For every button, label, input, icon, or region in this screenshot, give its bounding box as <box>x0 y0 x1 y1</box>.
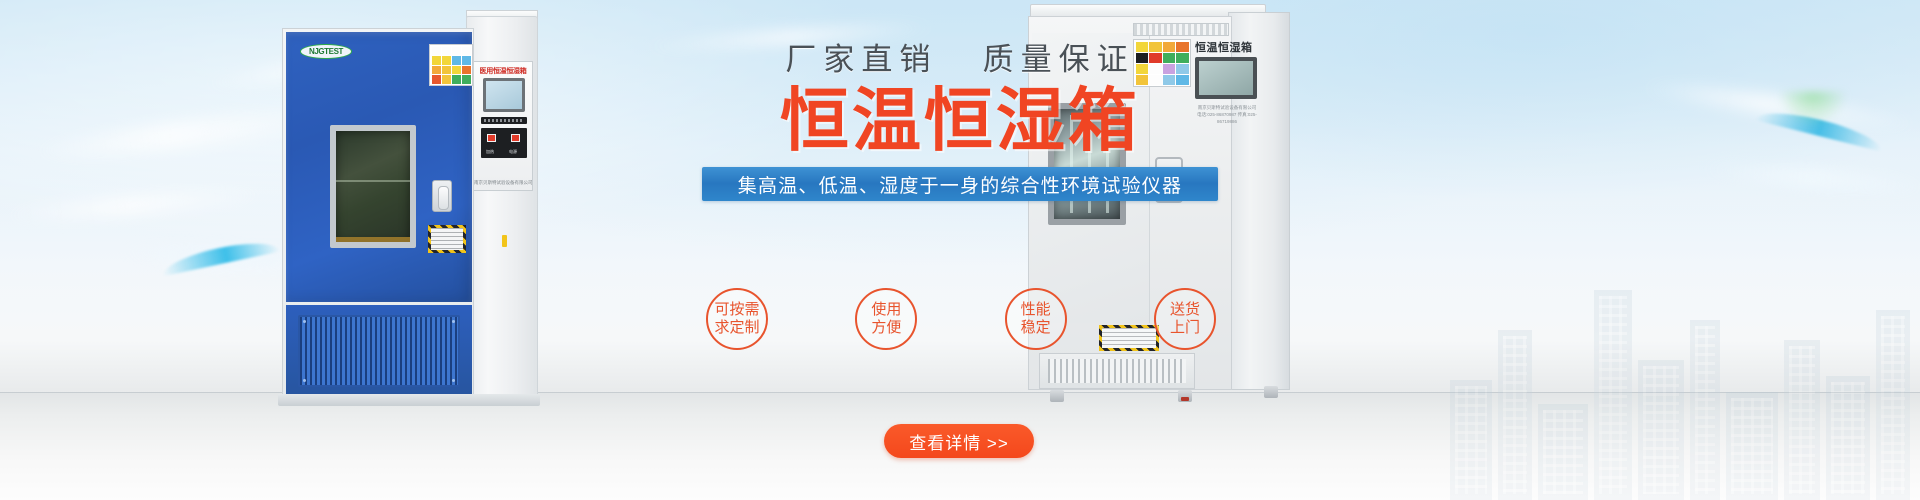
left-chamber-touchscreen <box>483 78 525 112</box>
view-details-label: 查看详情 >> <box>909 429 1009 454</box>
feature-badge-stable[interactable]: 性能 稳定 <box>1005 288 1067 350</box>
left-chamber-panel-title: 医用恒温恒湿箱 <box>474 66 532 76</box>
subtitle-text: 集高温、低温、湿度于一身的综合性环境试验仪器 <box>738 171 1182 198</box>
left-chamber-button-row: 加热 电源 <box>481 128 527 158</box>
feature-badge-delivery[interactable]: 送货 上门 <box>1154 288 1216 350</box>
left-chamber-warning-label <box>428 225 466 253</box>
left-chamber-ventilation-grille <box>298 315 460 387</box>
right-chamber-vent-slots <box>1133 23 1229 36</box>
badge-line-2: 求定制 <box>714 319 759 337</box>
brand-logo-icon: NJGTEST <box>300 44 352 59</box>
tagline-left: 厂家直销 <box>785 42 937 77</box>
left-chamber-control-column: 医用恒温恒湿箱 加热 电源 南京贝斯特试验设备有限公司 <box>466 16 538 400</box>
left-chamber-control-panel: 医用恒温恒湿箱 加热 电源 南京贝斯特试验设备有限公司 <box>473 61 533 191</box>
right-chamber-caster-foot <box>1178 390 1192 402</box>
tagline-right: 质量保证 <box>983 42 1135 77</box>
green-leaf-accent <box>1778 92 1848 126</box>
left-chamber-door-handle <box>432 180 452 212</box>
view-details-button[interactable]: 查看详情 >> <box>884 424 1034 458</box>
tagline: 厂家直销 质量保证 <box>700 44 1220 75</box>
left-chamber-viewing-window <box>330 125 416 248</box>
badge-line-1: 送货 <box>1170 301 1200 319</box>
product-image-left-chamber: 医用恒温恒湿箱 加热 电源 南京贝斯特试验设备有限公司 NJGTEST <box>282 28 538 400</box>
badge-line-1: 使用 <box>871 301 901 319</box>
right-chamber-caster-foot <box>1050 390 1064 402</box>
left-chamber-display-strip <box>481 117 527 124</box>
left-chamber-button-label-2: 电源 <box>509 149 517 155</box>
promo-banner: 医用恒温恒湿箱 加热 电源 南京贝斯特试验设备有限公司 NJGTEST <box>0 0 1920 500</box>
badge-line-2: 上门 <box>1170 319 1200 337</box>
left-chamber-button-label-1: 加热 <box>486 149 494 155</box>
left-chamber-safety-sticker <box>429 44 473 86</box>
badge-line-1: 性能 <box>1021 301 1051 319</box>
headline: 恒温恒湿箱 <box>700 86 1220 155</box>
left-chamber-blue-door: NJGTEST <box>286 32 472 302</box>
badge-line-2: 方便 <box>871 319 901 337</box>
badge-line-2: 稳定 <box>1021 319 1051 337</box>
left-chamber-lower-section <box>286 305 472 398</box>
brand-logo-text: NJGTEST <box>309 47 343 56</box>
subtitle-bar: 集高温、低温、湿度于一身的综合性环境试验仪器 <box>702 167 1218 201</box>
feature-badge-easy-use[interactable]: 使用 方便 <box>855 288 917 350</box>
right-chamber-ventilation-grille <box>1039 353 1195 389</box>
left-chamber-indicator-light <box>502 235 507 247</box>
right-chamber-caster-foot <box>1264 386 1278 398</box>
left-chamber-base-plinth <box>278 394 540 406</box>
feature-badge-custom[interactable]: 可按需 求定制 <box>706 288 768 350</box>
left-chamber-company-text: 南京贝斯特试验设备有限公司 <box>474 180 532 186</box>
city-skyline-silhouette <box>1440 200 1920 500</box>
left-chamber-body: NJGTEST <box>282 28 474 400</box>
feature-badge-group: 可按需 求定制 使用 方便 性能 稳定 送货 上门 <box>706 288 1216 350</box>
banner-copy-block: 厂家直销 质量保证 恒温恒湿箱 集高温、低温、湿度于一身的综合性环境试验仪器 <box>700 44 1220 201</box>
badge-line-1: 可按需 <box>714 301 759 319</box>
